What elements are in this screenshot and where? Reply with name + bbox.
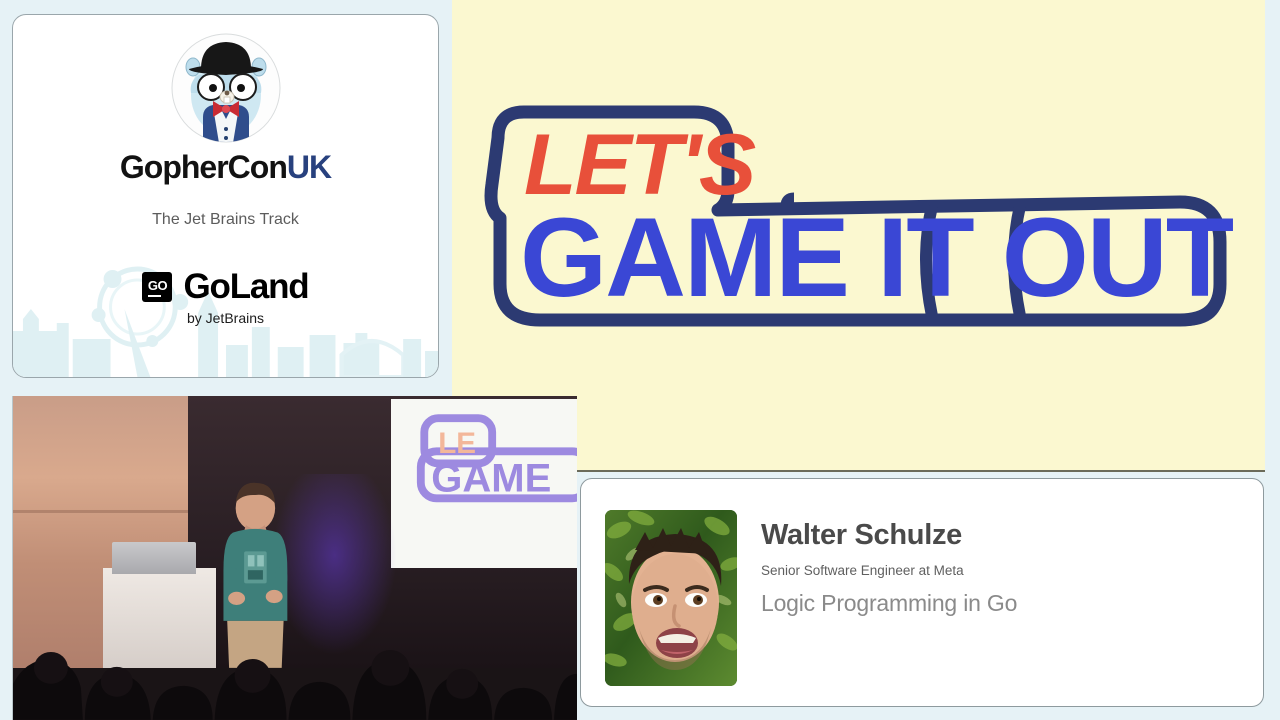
conference-title-main: GopherCon xyxy=(120,149,287,185)
goland-badge-icon: GO xyxy=(142,272,172,302)
gophercon-slide-card: GopherConUK The Jet Brains Track GO GoLa… xyxy=(12,14,439,378)
speaker-person xyxy=(199,480,312,668)
speaker-portrait-photo xyxy=(605,510,737,686)
goland-badge-text: GO xyxy=(148,279,167,292)
goland-sponsor-logo: GO GoLand xyxy=(142,269,308,304)
conference-track-label: The Jet Brains Track xyxy=(152,211,299,229)
speaker-talk-title: Logic Programming in Go xyxy=(761,590,1017,617)
lets-game-it-out-logo-icon: LET'S GAME IT OUT xyxy=(480,98,1240,328)
conference-title-suffix: UK xyxy=(287,149,331,185)
conference-stage-video[interactable]: LE GAME xyxy=(12,396,577,720)
goland-product-name: GoLand xyxy=(183,269,308,304)
speaker-text-block: Walter Schulze Senior Software Engineer … xyxy=(761,510,1017,617)
speaker-portrait-image xyxy=(605,510,737,686)
projection-logo-icon: LE GAME xyxy=(402,413,577,517)
svg-text:GAME: GAME xyxy=(431,456,551,500)
svg-text:LE: LE xyxy=(438,427,476,460)
logo-line2-text: GAME IT OUT xyxy=(520,195,1234,320)
audience-silhouettes xyxy=(13,642,577,720)
screen-root: GopherConUK The Jet Brains Track GO GoLa… xyxy=(0,0,1280,720)
goland-badge-underline xyxy=(148,295,161,297)
goland-byline: by JetBrains xyxy=(187,310,264,326)
podium-laptop xyxy=(112,542,197,574)
speaker-role: Senior Software Engineer at Meta xyxy=(761,563,1017,578)
speaker-info-card: Walter Schulze Senior Software Engineer … xyxy=(580,478,1264,707)
gopher-mascot-icon xyxy=(171,33,281,143)
speaker-name: Walter Schulze xyxy=(761,520,1017,552)
conference-title: GopherConUK xyxy=(120,151,331,183)
projection-screen: LE GAME xyxy=(391,399,577,567)
